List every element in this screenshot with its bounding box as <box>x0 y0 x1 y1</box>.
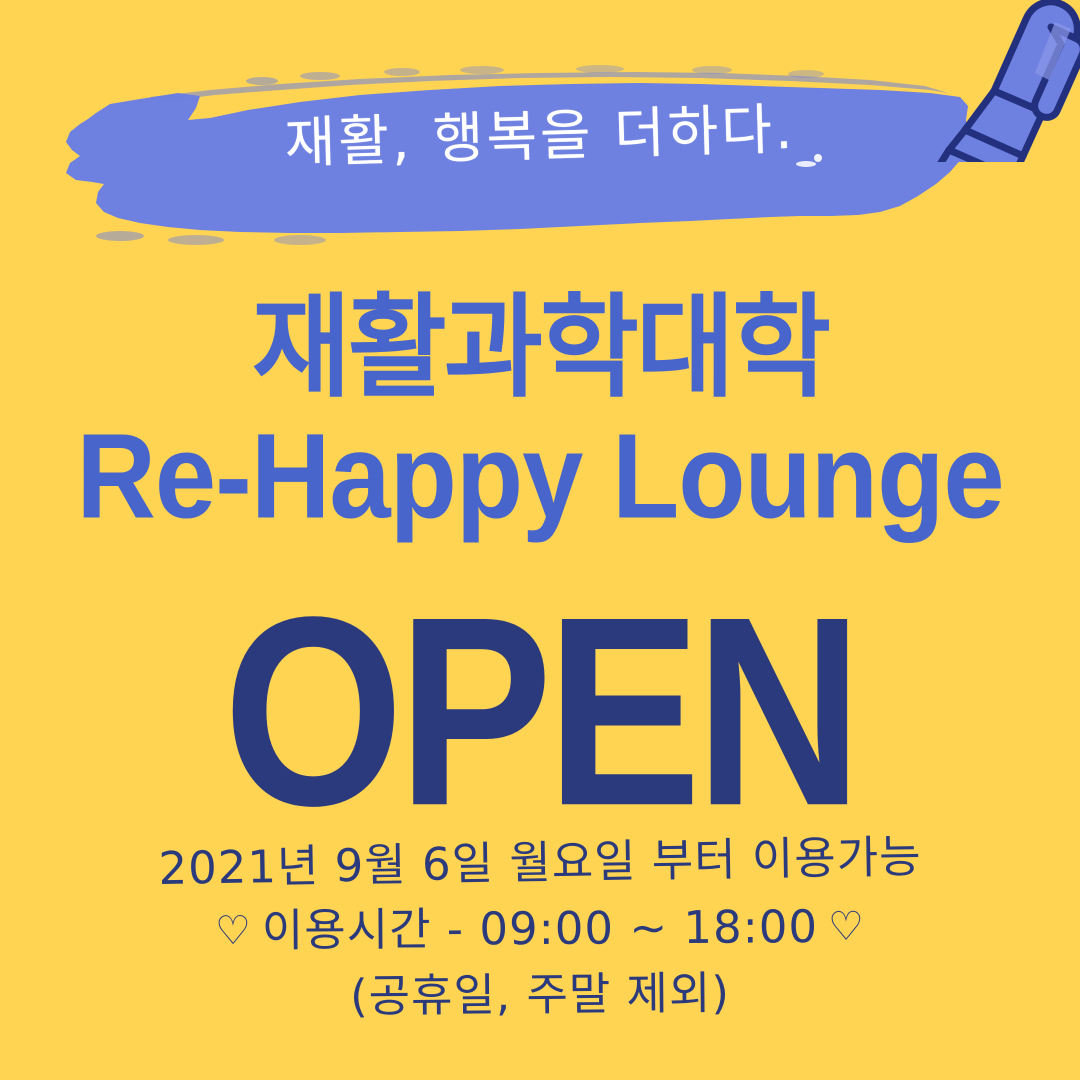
footer-exclusions: (공휴일, 주말 제외) <box>0 957 1080 1032</box>
heart-icon-left: ♡ <box>205 908 262 954</box>
open-status-block: OPEN <box>0 560 1080 810</box>
open-label: OPEN <box>0 578 1080 847</box>
banner-area: 재활, 행복을 더하다. <box>0 0 1080 270</box>
highlighter-pen-icon <box>905 0 1080 162</box>
title-english: Re-Happy Lounge <box>0 413 1080 538</box>
footer-block: 2021년 9월 6일 월요일 부터 이용가능 ♡이용시간 - 09:00 ~ … <box>0 830 1080 1028</box>
poster-canvas: 재활, 행복을 더하다. 재활과학대학 Re-Happy Lounge OPEN… <box>0 0 1080 1080</box>
title-korean: 재활과학대학 <box>22 288 1059 408</box>
footer-hours-label: 이용시간 - 09:00 ~ 18:00 <box>262 900 818 957</box>
heart-icon-right: ♡ <box>818 904 875 950</box>
footer-hours: ♡이용시간 - 09:00 ~ 18:00♡ <box>0 892 1080 966</box>
title-block: 재활과학대학 Re-Happy Lounge <box>0 288 1080 532</box>
footer-start-date: 2021년 9월 6일 월요일 부터 이용가능 <box>0 822 1080 905</box>
